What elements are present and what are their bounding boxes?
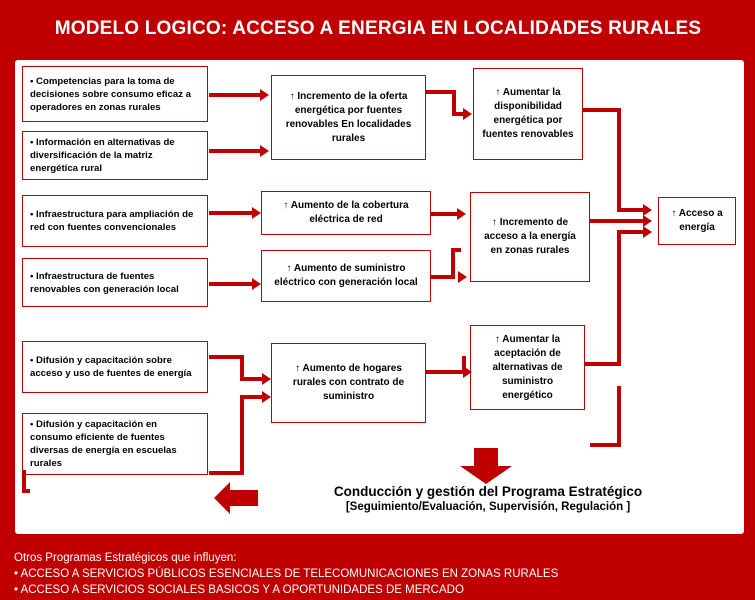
- connector-in2-pr1: [209, 149, 262, 153]
- connector-oc1-spine-v: [617, 108, 621, 212]
- input-box-4-label: • Infraestructura de fuentes renovables …: [30, 270, 200, 296]
- arrowhead-in2-pr1: [260, 145, 269, 157]
- product-box-1-label: ↑ Incremento de la oferta energética por…: [278, 90, 419, 146]
- outcome-box-2: ↑ Incremento de acceso a la energía en z…: [470, 192, 590, 282]
- left-block-arrow-icon: [214, 482, 258, 514]
- product-box-4-label: ↑ Aumento de hogares rurales con contrat…: [278, 362, 419, 404]
- connector-oc1-spine-h: [583, 108, 621, 112]
- arrowhead-pr2-oc2: [457, 208, 466, 220]
- management-caption-line2: [Seguimiento/Evaluación, Supervisión, Re…: [268, 500, 708, 515]
- connector-in5-pr4-h2: [240, 377, 264, 381]
- input-box-4: • Infraestructura de fuentes renovables …: [22, 258, 208, 307]
- footer-bullet-2: • ACCESO A SERVICIOS SOCIALES BASICOS Y …: [14, 582, 741, 598]
- outcome-box-3: ↑ Aumentar la aceptación de alternativas…: [470, 325, 585, 410]
- diagram-page: MODELO LOGICO: ACCESO A ENERGIA EN LOCAL…: [0, 0, 755, 600]
- connector-pr2-oc2: [431, 212, 459, 216]
- product-box-4: ↑ Aumento de hogares rurales con contrat…: [271, 343, 426, 423]
- management-caption-line1: Conducción y gestión del Programa Estrat…: [268, 483, 708, 500]
- connector-in6-pr4-h1: [209, 471, 244, 475]
- connector-in6-pr4-v: [240, 395, 244, 475]
- connector-oc1-impact: [617, 208, 645, 212]
- input-box-5: • Difusión y capacitación sobre acceso y…: [22, 341, 208, 393]
- footer-heading: Otros Programas Estratégicos que influye…: [14, 550, 741, 566]
- outcome-box-1-label: ↑ Aumentar la disponibilidad energética …: [480, 86, 576, 142]
- arrowhead-in3-pr2: [252, 207, 261, 219]
- connector-pr3-oc2-h2: [451, 248, 461, 252]
- input-box-3-label: • Infraestructura para ampliación de red…: [30, 208, 200, 234]
- arrowhead-pr4-oc3: [463, 366, 472, 378]
- management-caption: Conducción y gestión del Programa Estrat…: [268, 483, 708, 515]
- impact-box-label: ↑ Acceso a energía: [665, 207, 729, 235]
- connector-management-spine: [617, 386, 621, 446]
- page-title: MODELO LOGICO: ACCESO A ENERGIA EN LOCAL…: [32, 4, 724, 52]
- product-box-3-label: ↑ Aumento de suministro eléctrico con ge…: [268, 262, 424, 290]
- footer-bullet-1: • ACCESO A SERVICIOS PÚBLICOS ESENCIALES…: [14, 566, 741, 582]
- arrowhead-in6-pr4: [262, 391, 271, 403]
- input-box-6: • Difusión y capacitación en consumo efi…: [22, 413, 208, 475]
- outcome-box-3-label: ↑ Aumentar la aceptación de alternativas…: [477, 333, 578, 403]
- down-block-arrow-icon: [460, 448, 512, 484]
- outcome-box-2-label: ↑ Incremento de acceso a la energía en z…: [477, 216, 583, 258]
- outcome-box-1: ↑ Aumentar la disponibilidad energética …: [473, 68, 583, 160]
- connector-in4-pr3: [209, 282, 254, 286]
- product-box-1: ↑ Incremento de la oferta energética por…: [271, 75, 426, 160]
- footer: Otros Programas Estratégicos que influye…: [0, 540, 755, 600]
- input-box-3: • Infraestructura para ampliación de red…: [22, 195, 208, 247]
- product-box-2-label: ↑ Aumento de la cobertura eléctrica de r…: [268, 199, 424, 227]
- connector-oc3-impact: [617, 230, 645, 234]
- input-box-5-label: • Difusión y capacitación sobre acceso y…: [30, 354, 200, 380]
- product-box-2: ↑ Aumento de la cobertura eléctrica de r…: [261, 191, 431, 235]
- connector-pr4-oc3-h1: [426, 370, 466, 374]
- arrowhead-in4-pr3: [252, 278, 261, 290]
- product-box-3: ↑ Aumento de suministro eléctrico con ge…: [261, 250, 431, 302]
- connector-management-spine-h: [590, 443, 621, 447]
- arrowhead-in5-pr4: [262, 373, 271, 385]
- input-box-1-label: • Competencias para la toma de decisione…: [30, 75, 200, 114]
- connector-in3-pr2: [209, 211, 254, 215]
- connector-in6-pr4-h2: [240, 395, 264, 399]
- connector-in5-pr4-h1: [209, 355, 244, 359]
- connector-oc2-impact: [590, 219, 645, 223]
- page-title-text: MODELO LOGICO: ACCESO A ENERGIA EN LOCAL…: [55, 17, 702, 40]
- input-box-1: • Competencias para la toma de decisione…: [22, 66, 208, 122]
- impact-box: ↑ Acceso a energía: [658, 197, 736, 245]
- connector-left-stub-v: [22, 470, 26, 492]
- input-box-2-label: • Información en alternativas de diversi…: [30, 136, 200, 175]
- arrowhead-pr3-oc2: [458, 271, 467, 283]
- connector-in1-pr1: [209, 93, 262, 97]
- connector-oc3-spine-v: [617, 230, 621, 364]
- arrowhead-pr1-oc1: [463, 108, 472, 120]
- input-box-2: • Información en alternativas de diversi…: [22, 131, 208, 180]
- arrowhead-in1-pr1: [260, 89, 269, 101]
- connector-oc3-spine-h: [585, 362, 621, 366]
- arrowhead-oc3-impact: [643, 226, 652, 238]
- input-box-6-label: • Difusión y capacitación en consumo efi…: [30, 418, 200, 470]
- connector-pr3-oc2-v: [451, 248, 455, 279]
